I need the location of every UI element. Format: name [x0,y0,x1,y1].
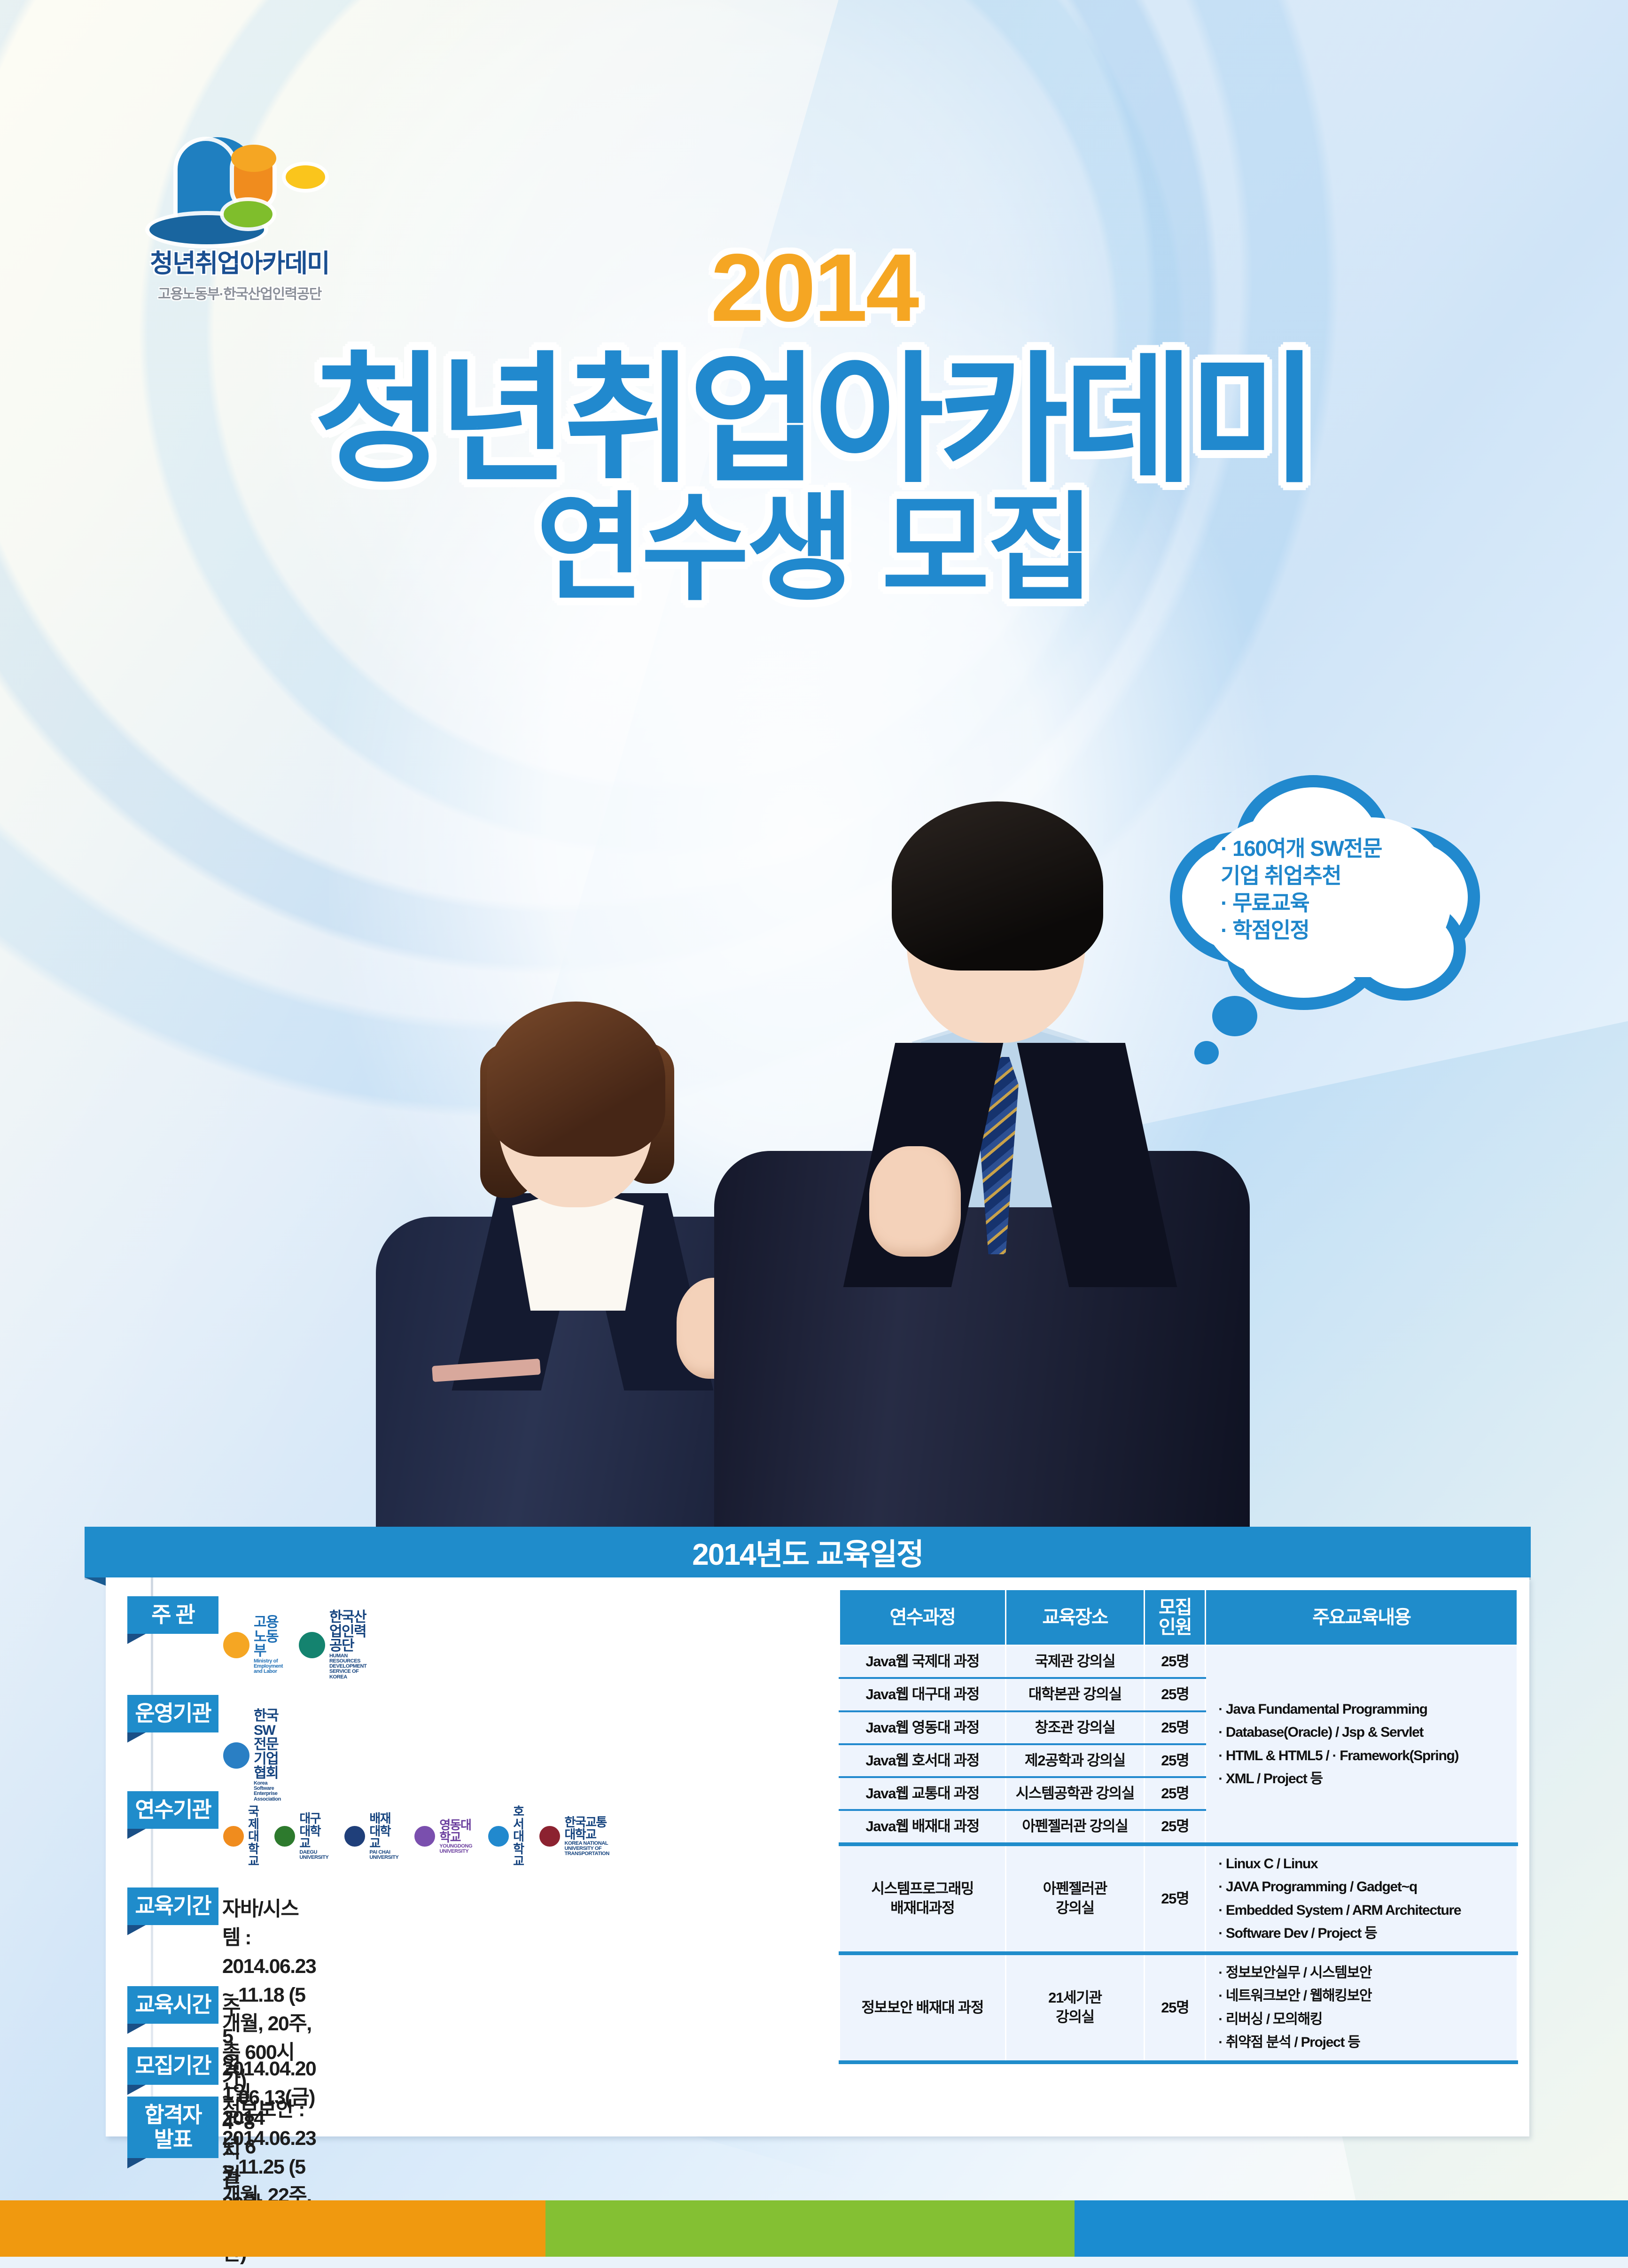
cell-capacity: 25명 [1145,1646,1206,1678]
info-row-label: 교육시간 [127,1986,218,2024]
cell-place: 창조관 강의실 [1005,1711,1145,1744]
partner-logo-mark-icon [539,1826,560,1847]
partner-logo-mark-icon [274,1826,295,1847]
cell-place: 제2공학과 강의실 [1005,1744,1145,1777]
partner-logo-name: 한국교통대학교 [564,1816,609,1841]
partner-logo-name: 국제대학교 [248,1805,258,1868]
course-table: 연수과정 교육장소 모집 인원 주요교육내용 Java웹 국제대 과정국제관 강… [839,1589,1518,2064]
strip-segment-blue [1075,2200,1628,2257]
thought-dot-small [1194,1041,1219,1064]
partner-logo-group: 국제대학교대구대학교DAEGU UNIVERSITY배재대학교PAI CHAI … [223,1805,609,1868]
course-table-head: 연수과정 교육장소 모집 인원 주요교육내용 [840,1590,1518,1646]
partner-logo-name: 한국SW전문기업협회 [254,1709,281,1781]
cell-course: 정보보안 배재대 과정 [840,1953,1006,2062]
cell-place: 대학본관 강의실 [1005,1678,1145,1711]
cell-course: Java웹 호서대 과정 [840,1744,1006,1777]
partner-logo-mark-icon [344,1826,365,1847]
info-row: 주 관고용노동부Ministry of Employment and Labor… [106,1596,218,1634]
partner-logo: 고용노동부Ministry of Employment and Labor [223,1616,283,1674]
partner-logo: 한국교통대학교KOREA NATIONAL UNIVERSITY OF TRAN… [539,1816,609,1857]
bubble-line-1: · 160여개 SW전문 기업 취업추천 [1221,835,1446,890]
partner-logo-name: 호서대학교 [513,1805,523,1868]
schedule-section-header: 2014년도 교육일정 [85,1527,1531,1577]
thought-dot-large [1212,996,1257,1036]
info-row-label: 합격자 발표 [127,2097,218,2158]
thought-bubble-text: · 160여개 SW전문 기업 취업추천 · 무료교육 · 학점인정 [1221,835,1446,944]
cell-place: 아펜젤러관 강의실 [1005,1810,1145,1844]
info-row-label: 교육기간 [127,1887,218,1925]
info-row: 합격자 발표2014년 6월 20일(금) [106,2097,218,2158]
partner-logo-name: 대구대학교 [299,1812,328,1850]
cell-capacity: 25명 [1145,1953,1206,2062]
cell-place: 시스템공학관 강의실 [1005,1777,1145,1810]
course-table-body: Java웹 국제대 과정국제관 강의실25명· Java Fundamental… [840,1646,1518,2062]
partner-logo: 국제대학교 [223,1805,258,1868]
cell-course: Java웹 교통대 과정 [840,1777,1006,1810]
poster-headline: 2014 청년취업아카데미 연수생 모집 [0,240,1628,611]
strip-segment-orange [0,2200,545,2257]
partner-logo-name-en: PAI CHAI UNIVERSITY [369,1850,398,1860]
table-row: 시스템프로그래밍 배재대과정아펜젤러관 강의실25명· Linux C / Li… [840,1844,1518,1953]
partner-logo-name-en: Korea Software Enterprise Association [254,1781,281,1802]
bubble-line-2: · 무료교육 [1221,890,1446,917]
cell-capacity: 25명 [1145,1844,1206,1953]
cell-place: 국제관 강의실 [1005,1646,1145,1678]
cell-content: · Java Fundamental Programming · Databas… [1206,1646,1518,1844]
man-fist [869,1146,961,1257]
headline-line-2: 연수생 모집 [0,487,1628,611]
info-row: 운영기관한국SW전문기업협회Korea Software Enterprise … [106,1695,218,1732]
partner-logo: 배재대학교PAI CHAI UNIVERSITY [344,1812,398,1860]
partner-logo-group: 한국SW전문기업협회Korea Software Enterprise Asso… [223,1709,281,1802]
partner-logo: 영동대학교YOUNGDONG UNIVERSITY [414,1819,472,1854]
cell-course: Java웹 국제대 과정 [840,1646,1006,1678]
partner-logo-mark-icon [299,1632,325,1658]
table-row: Java웹 국제대 과정국제관 강의실25명· Java Fundamental… [840,1646,1518,1678]
cell-place: 아펜젤러관 강의실 [1005,1844,1145,1953]
cell-content: · 정보보안실무 / 시스템보안 · 네트워크보안 / 웹해킹보안 · 리버싱 … [1206,1953,1518,2062]
cell-capacity: 25명 [1145,1678,1206,1711]
footer-color-strip [0,2200,1628,2257]
info-row-label: 운영기관 [127,1695,218,1732]
headline-line-1: 청년취업아카데미 [0,348,1628,492]
partner-logo: 호서대학교 [488,1805,523,1868]
cell-course: 시스템프로그래밍 배재대과정 [840,1844,1006,1953]
info-row: 교육시간주 5일, 1일 4~8시간 [106,1986,218,2024]
cell-course: Java웹 배재대 과정 [840,1810,1006,1844]
partner-logo-group: 고용노동부Ministry of Employment and Labor한국산… [223,1610,366,1680]
info-column: 주 관고용노동부Ministry of Employment and Labor… [106,1577,829,2136]
partner-logo-name: 배재대학교 [369,1812,398,1850]
cell-capacity: 25명 [1145,1744,1206,1777]
cell-capacity: 25명 [1145,1777,1206,1810]
partner-logo-mark-icon [488,1826,509,1847]
partner-logo: 한국산업인력공단HUMAN RESOURCES DEVELOPMENT SERV… [299,1610,366,1680]
partner-logo-name: 영동대학교 [439,1819,472,1844]
partner-logo: 대구대학교DAEGU UNIVERSITY [274,1812,328,1860]
info-row-label: 연수기관 [127,1791,218,1829]
schedule-panel: 주 관고용노동부Ministry of Employment and Labor… [106,1577,1529,2136]
info-row-label: 주 관 [127,1596,218,1634]
info-row: 연수기관국제대학교대구대학교DAEGU UNIVERSITY배재대학교PAI C… [106,1791,218,1829]
info-row-value: 2014.04.20 ~ 06.13(금) [222,2055,316,2112]
info-row: 모집기간2014.04.20 ~ 06.13(금) [106,2047,218,2085]
partner-logo-name-en: Ministry of Employment and Labor [254,1659,283,1675]
headline-year: 2014 [0,240,1628,336]
col-header-capacity: 모집 인원 [1145,1590,1206,1646]
col-header-course: 연수과정 [840,1590,1006,1646]
thought-bubble: · 160여개 SW전문 기업 취업추천 · 무료교육 · 학점인정 [1165,775,1494,1038]
bubble-line-3: · 학점인정 [1221,917,1446,944]
partner-logo-mark-icon [223,1742,249,1769]
info-row: 교육기간자바/시스템 : 2014.06.23 ~ 11.18 (5개월, 20… [106,1887,218,1925]
partner-logo-name-en: HUMAN RESOURCES DEVELOPMENT SERVICE OF K… [329,1654,366,1680]
people-photo [357,733,1250,1546]
partner-logo-name-en: DAEGU UNIVERSITY [299,1850,328,1860]
partner-logo-name: 고용노동부 [254,1616,283,1659]
cell-course: Java웹 대구대 과정 [840,1678,1006,1711]
col-header-content: 주요교육내용 [1206,1590,1518,1646]
info-row-label: 모집기간 [127,2047,218,2085]
partner-logo-name-en: YOUNGDONG UNIVERSITY [439,1844,472,1854]
cell-course: Java웹 영동대 과정 [840,1711,1006,1744]
table-row: 정보보안 배재대 과정21세기관 강의실25명· 정보보안실무 / 시스템보안 … [840,1953,1518,2062]
cell-content: · Linux C / Linux · JAVA Programming / G… [1206,1844,1518,1953]
partner-logo-mark-icon [414,1826,435,1847]
cell-place: 21세기관 강의실 [1005,1953,1145,2062]
partner-logo-name: 한국산업인력공단 [329,1610,366,1654]
partner-logo-mark-icon [223,1826,244,1847]
strip-segment-green [545,2200,1075,2257]
col-header-place: 교육장소 [1005,1590,1145,1646]
cell-capacity: 25명 [1145,1810,1206,1844]
partner-logo-mark-icon [223,1632,249,1658]
schedule-section-title: 2014년도 교육일정 [692,1530,923,1574]
academy-logo-icon [108,136,371,240]
partner-logo-name-en: KOREA NATIONAL UNIVERSITY OF TRANSPORTAT… [564,1841,609,1857]
cell-capacity: 25명 [1145,1711,1206,1744]
course-table-header-row: 연수과정 교육장소 모집 인원 주요교육내용 [840,1590,1518,1646]
partner-logo: 한국SW전문기업협회Korea Software Enterprise Asso… [223,1709,281,1802]
